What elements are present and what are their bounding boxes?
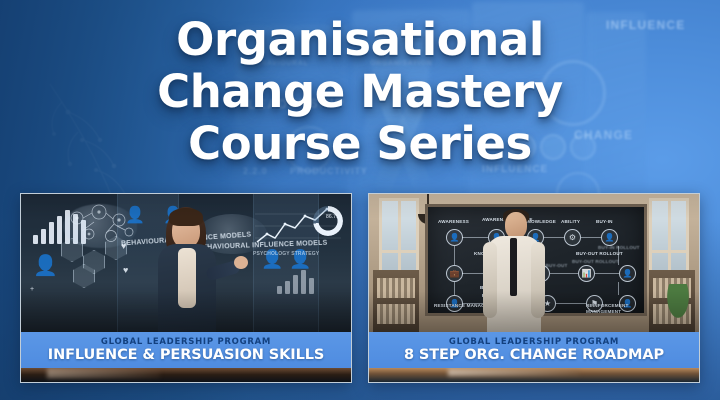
donut-chart-icon	[313, 206, 343, 236]
page-title-line-2: Change Mastery	[0, 66, 720, 118]
course-card-kicker-right: GLOBAL LEADERSHIP PROGRAM	[449, 338, 619, 347]
roadmap-node-user-5: 👤	[619, 265, 636, 282]
roadmap-node-chart: 📊	[578, 265, 595, 282]
page-title-line-3: Course Series	[0, 118, 720, 170]
roadmap-node-briefcase: 💼	[446, 265, 463, 282]
board-label-buy-out-rollout-1: BUY-OUT ROLLOUT	[576, 251, 623, 257]
board-label-awareness: AWARENESS	[438, 219, 469, 225]
audience-figures	[21, 276, 351, 332]
office-scene: 👤 👤 👤 ⚙ 👤 💼 💡 ◎ 📊 👤 👤 ⏱ ★ ⚑ �	[369, 194, 699, 332]
course-card-footer-right	[369, 368, 699, 382]
roadmap-node-gear: ⚙	[564, 229, 581, 246]
board-label-buy-in: BUY-IN	[596, 219, 613, 225]
businessman-figure	[481, 208, 547, 332]
presentation-scene: 👤 👤 👤 👤 👤 ♥ ♥ +	[21, 194, 351, 332]
course-card-artwork-left: 👤 👤 👤 👤 👤 ♥ ♥ +	[21, 194, 351, 332]
course-card-kicker-left: GLOBAL LEADERSHIP PROGRAM	[101, 338, 271, 347]
promo-banner-stage: LEADERSHIP INFLUENCE CHANGE INFLUENCE PR…	[0, 0, 720, 400]
page-title-line-1: Organisational	[0, 14, 720, 66]
user-icon-1: 👤	[33, 256, 58, 276]
course-card-footer-left	[21, 368, 351, 382]
board-label-buy-in-rollout: BUY-IN ROLLOUT	[598, 245, 640, 251]
heart-icon-2: ♥	[123, 266, 128, 275]
roadmap-node-user-1: 👤	[446, 229, 463, 246]
user-icon-2: 👤	[125, 208, 145, 224]
course-card-banner-right: GLOBAL LEADERSHIP PROGRAM 8 STEP ORG. CH…	[369, 332, 699, 368]
course-card-org-change-roadmap[interactable]: 👤 👤 👤 ⚙ 👤 💼 💡 ◎ 📊 👤 👤 ⏱ ★ ⚑ �	[368, 193, 700, 383]
page-title: Organisational Change Mastery Course Ser…	[0, 14, 720, 170]
roadmap-node-user-4: 👤	[601, 229, 618, 246]
course-card-banner-left: GLOBAL LEADERSHIP PROGRAM INFLUENCE & PE…	[21, 332, 351, 368]
board-label-reinforcement-management: REINFORCEMENT MANAGEMENT	[586, 303, 644, 314]
board-label-ability: ABILITY	[561, 219, 580, 225]
donut-chart-value: 86.79	[326, 214, 339, 220]
overlay-label-psychology-strategy: PSYCHOLOGY STRATEGY	[253, 252, 319, 258]
course-card-artwork-right: 👤 👤 👤 ⚙ 👤 💼 💡 ◎ 📊 👤 👤 ⏱ ★ ⚑ �	[369, 194, 699, 332]
course-card-title-right: 8 STEP ORG. CHANGE ROADMAP	[404, 348, 664, 363]
bookshelf-left	[373, 270, 419, 332]
course-card-influence-persuasion[interactable]: 👤 👤 👤 👤 👤 ♥ ♥ +	[20, 193, 352, 383]
course-card-title-left: INFLUENCE & PERSUASION SKILLS	[48, 348, 324, 363]
board-label-buy-out-rollout-2: BUY-OUT ROLLOUT	[572, 259, 619, 265]
plant-decoration	[663, 284, 693, 326]
